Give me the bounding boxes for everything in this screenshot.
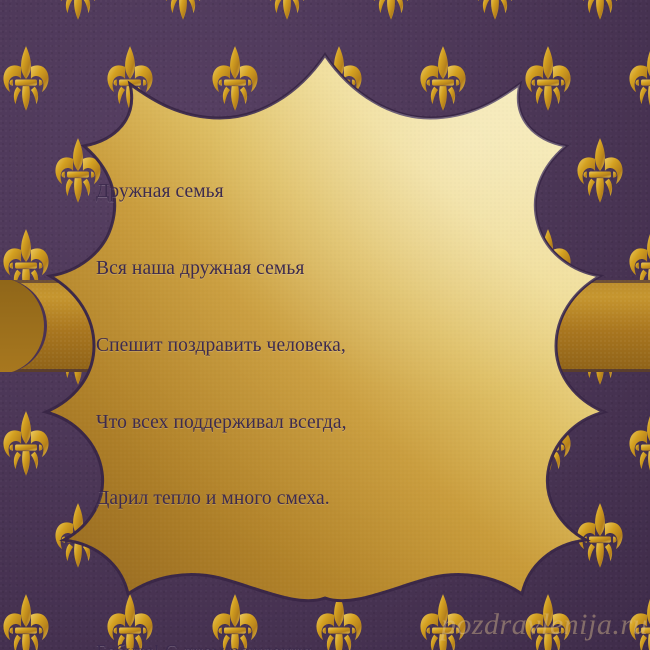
poem-line: Вся наша дружная семья (96, 256, 496, 282)
poem-heading: Дружная семья (96, 179, 496, 205)
poem-text: Дружная семья Вся наша дружная семья Спе… (96, 128, 496, 650)
greeting-card: Дружная семья Вся наша дружная семья Спе… (0, 0, 650, 650)
poem-line: Дарил тепло и много смеха. (96, 486, 496, 512)
poem-line: Спешит поздравить человека, (96, 333, 496, 359)
poem-line: Бабуля! С днем рождения — (96, 640, 496, 650)
stanza-gap (96, 563, 496, 589)
poem-line: Что всех поддерживал всегда, (96, 410, 496, 436)
